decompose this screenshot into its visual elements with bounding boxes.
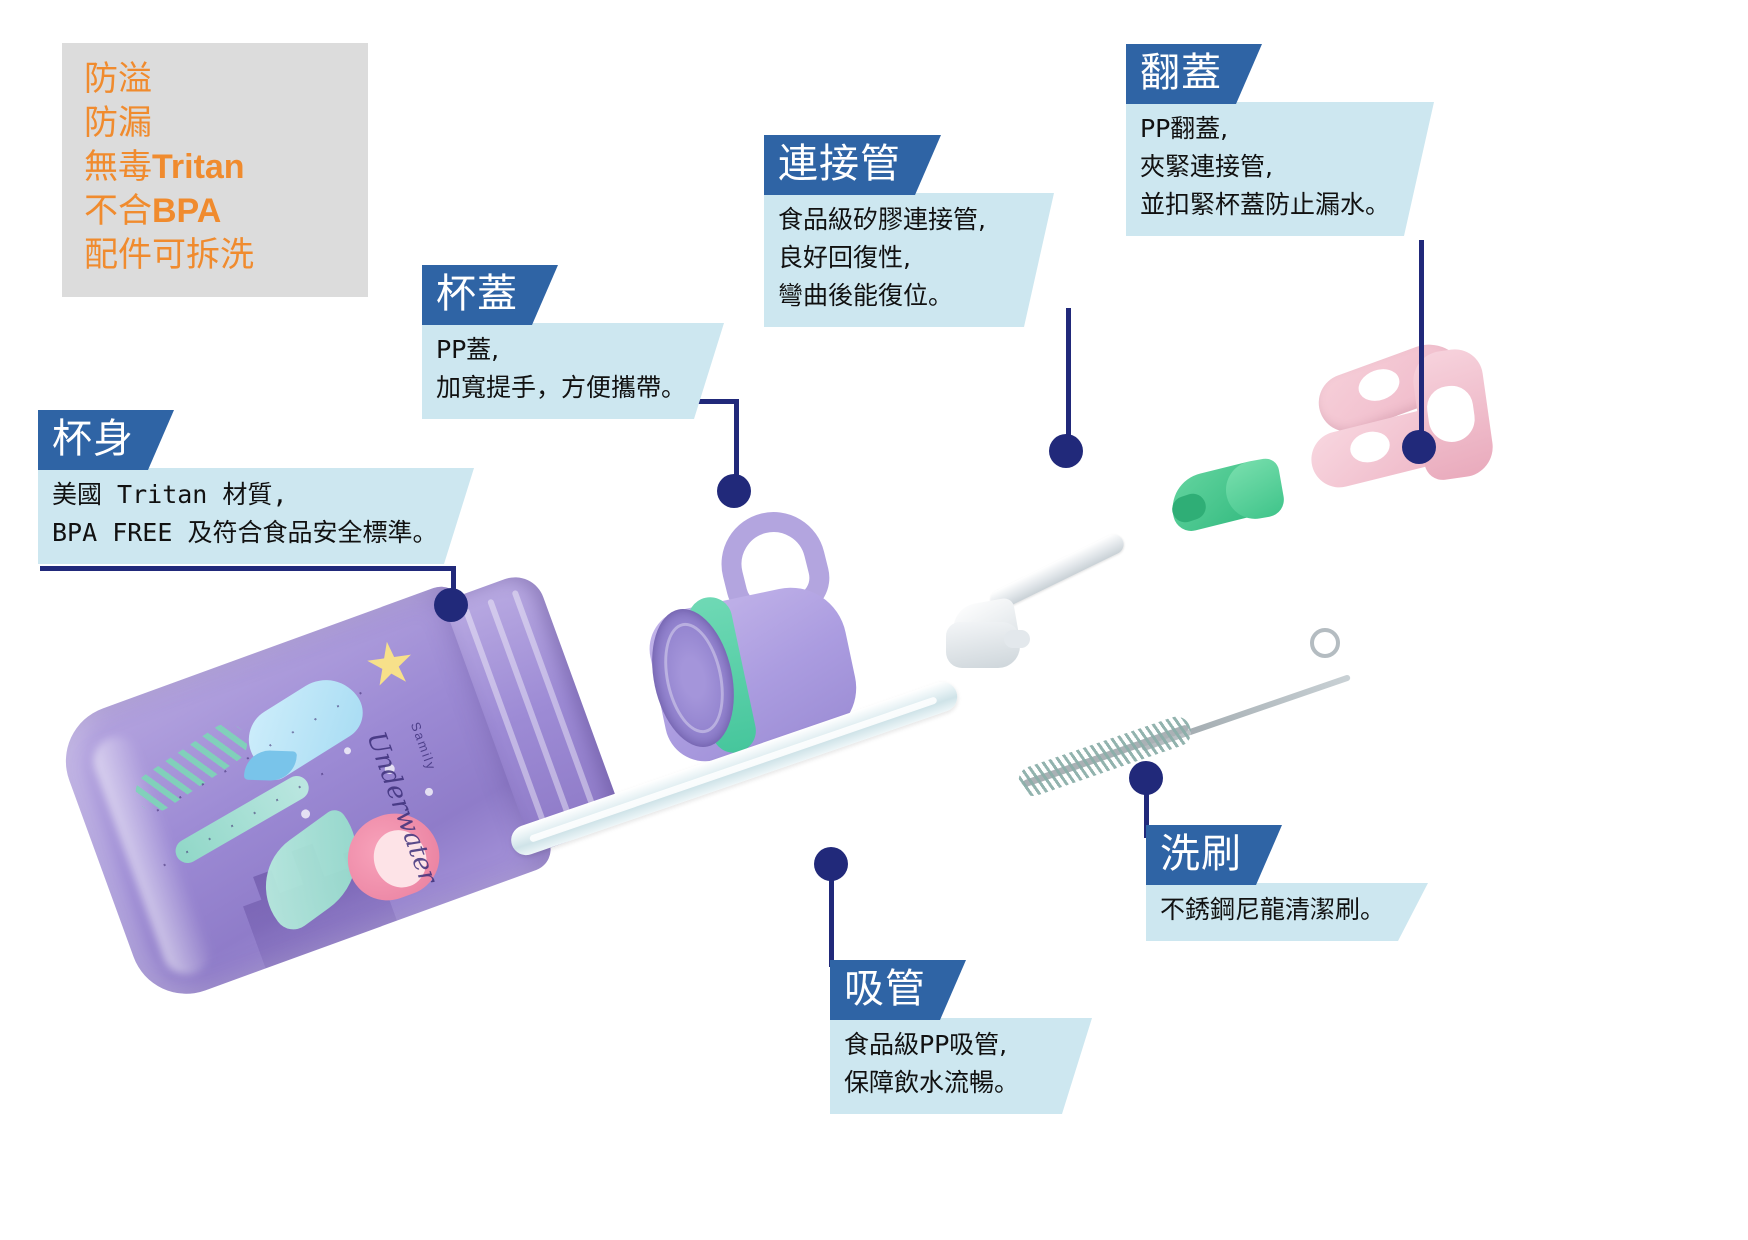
- feature-list: 防溢 防漏 無毒Tritan 不合BPA 配件可拆洗: [62, 43, 368, 277]
- seaweed-graphic: [128, 716, 255, 820]
- callout-line: 夾緊連接管,: [1140, 148, 1400, 186]
- leader-line-connector-v: [1066, 308, 1071, 448]
- callout-line: 不銹鋼尼龍清潔刷。: [1160, 891, 1394, 929]
- callout-line: BPA FREE 及符合食品安全標準。: [52, 514, 440, 552]
- feature-item-0: 防溢: [84, 57, 368, 101]
- feature-text: 防溢: [84, 59, 152, 99]
- leader-line-cup-lid-v2: [734, 399, 739, 479]
- bubble-graphic: [300, 808, 312, 820]
- callout-tab-flip-top[interactable]: 翻蓋: [1126, 44, 1262, 104]
- feature-text: 無毒: [84, 147, 152, 187]
- callout-flip-top: 翻蓋 PP翻蓋, 夾緊連接管, 並扣緊杯蓋防止漏水。: [1126, 44, 1434, 236]
- feature-item-4: 配件可拆洗: [84, 233, 368, 277]
- callout-panel-straw: 食品級PP吸管, 保障飲水流暢。: [830, 1018, 1092, 1114]
- callout-line: 彎曲後能復位。: [778, 277, 1020, 315]
- bubble-graphic: [424, 787, 434, 797]
- product-flip-top: [1300, 340, 1520, 510]
- leader-dot-bottle-body: [434, 588, 468, 622]
- callout-panel-brush: 不銹鋼尼龍清潔刷。: [1146, 883, 1428, 941]
- feature-text-bold: Tritan: [152, 148, 245, 186]
- callout-panel-flip-top: PP翻蓋, 夾緊連接管, 並扣緊杯蓋防止漏水。: [1126, 102, 1434, 236]
- feature-item-3: 不合BPA: [84, 189, 368, 233]
- leader-line-bottle-body-h: [40, 566, 456, 571]
- brush-loop-end: [1310, 628, 1340, 658]
- brush-bristles: [1015, 713, 1195, 800]
- callout-tab-connector-tube[interactable]: 連接管: [764, 135, 941, 195]
- leader-dot-cup-lid: [717, 474, 751, 508]
- starfish-graphic: [364, 639, 416, 691]
- callout-panel-bottle-body: 美國 Tritan 材質, BPA FREE 及符合食品安全標準。: [38, 468, 474, 564]
- product-straw: [512, 770, 982, 950]
- callout-tab-straw[interactable]: 吸管: [830, 960, 966, 1020]
- callout-line: PP蓋,: [436, 331, 690, 369]
- feature-highlight-box: 防溢 防漏 無毒Tritan 不合BPA 配件可拆洗: [62, 43, 368, 297]
- product-green-clip: [1170, 455, 1290, 535]
- callout-line: 良好回復性,: [778, 239, 1020, 277]
- callout-bottle-body: 杯身 美國 Tritan 材質, BPA FREE 及符合食品安全標準。: [38, 410, 474, 564]
- callout-cup-lid: 杯蓋 PP蓋, 加寬提手，方便攜帶。: [422, 265, 724, 419]
- callout-panel-cup-lid: PP蓋, 加寬提手，方便攜帶。: [422, 323, 724, 419]
- bubble-graphic: [343, 746, 352, 755]
- callout-line: 食品級PP吸管,: [844, 1026, 1058, 1064]
- callout-brush: 洗刷 不銹鋼尼龍清潔刷。: [1146, 825, 1428, 941]
- callout-line: 並扣緊杯蓋防止漏水。: [1140, 186, 1400, 224]
- callout-line: 加寬提手，方便攜帶。: [436, 369, 690, 407]
- callout-line: 美國 Tritan 材質,: [52, 476, 440, 514]
- callout-line: PP翻蓋,: [1140, 110, 1400, 148]
- feature-text: 防漏: [84, 103, 152, 143]
- leader-dot-connector: [1049, 434, 1083, 468]
- infographic-canvas: 防溢 防漏 無毒Tritan 不合BPA 配件可拆洗 Underwa: [0, 0, 1748, 1240]
- callout-tab-cup-lid[interactable]: 杯蓋: [422, 265, 558, 325]
- leader-dot-flip-top: [1402, 430, 1436, 464]
- callout-connector-tube: 連接管 食品級矽膠連接管, 良好回復性, 彎曲後能復位。: [764, 135, 1054, 327]
- feature-text: 配件可拆洗: [84, 235, 254, 275]
- callout-tab-bottle-body[interactable]: 杯身: [38, 410, 174, 470]
- callout-straw: 吸管 食品級PP吸管, 保障飲水流暢。: [830, 960, 1092, 1114]
- callout-tab-brush[interactable]: 洗刷: [1146, 825, 1282, 885]
- leader-line-straw-v: [829, 864, 834, 967]
- feature-item-2: 無毒Tritan: [84, 145, 368, 189]
- leader-line-flip-top-v: [1419, 240, 1424, 440]
- callout-panel-connector-tube: 食品級矽膠連接管, 良好回復性, 彎曲後能復位。: [764, 193, 1054, 327]
- callout-line: 保障飲水流暢。: [844, 1064, 1058, 1102]
- feature-text-bold: BPA: [152, 192, 221, 230]
- brand-name: Samily: [408, 720, 440, 773]
- callout-line: 食品級矽膠連接管,: [778, 201, 1020, 239]
- product-cleaning-brush: [1010, 620, 1360, 780]
- feature-item-1: 防漏: [84, 101, 368, 145]
- feature-text: 不合: [84, 191, 152, 231]
